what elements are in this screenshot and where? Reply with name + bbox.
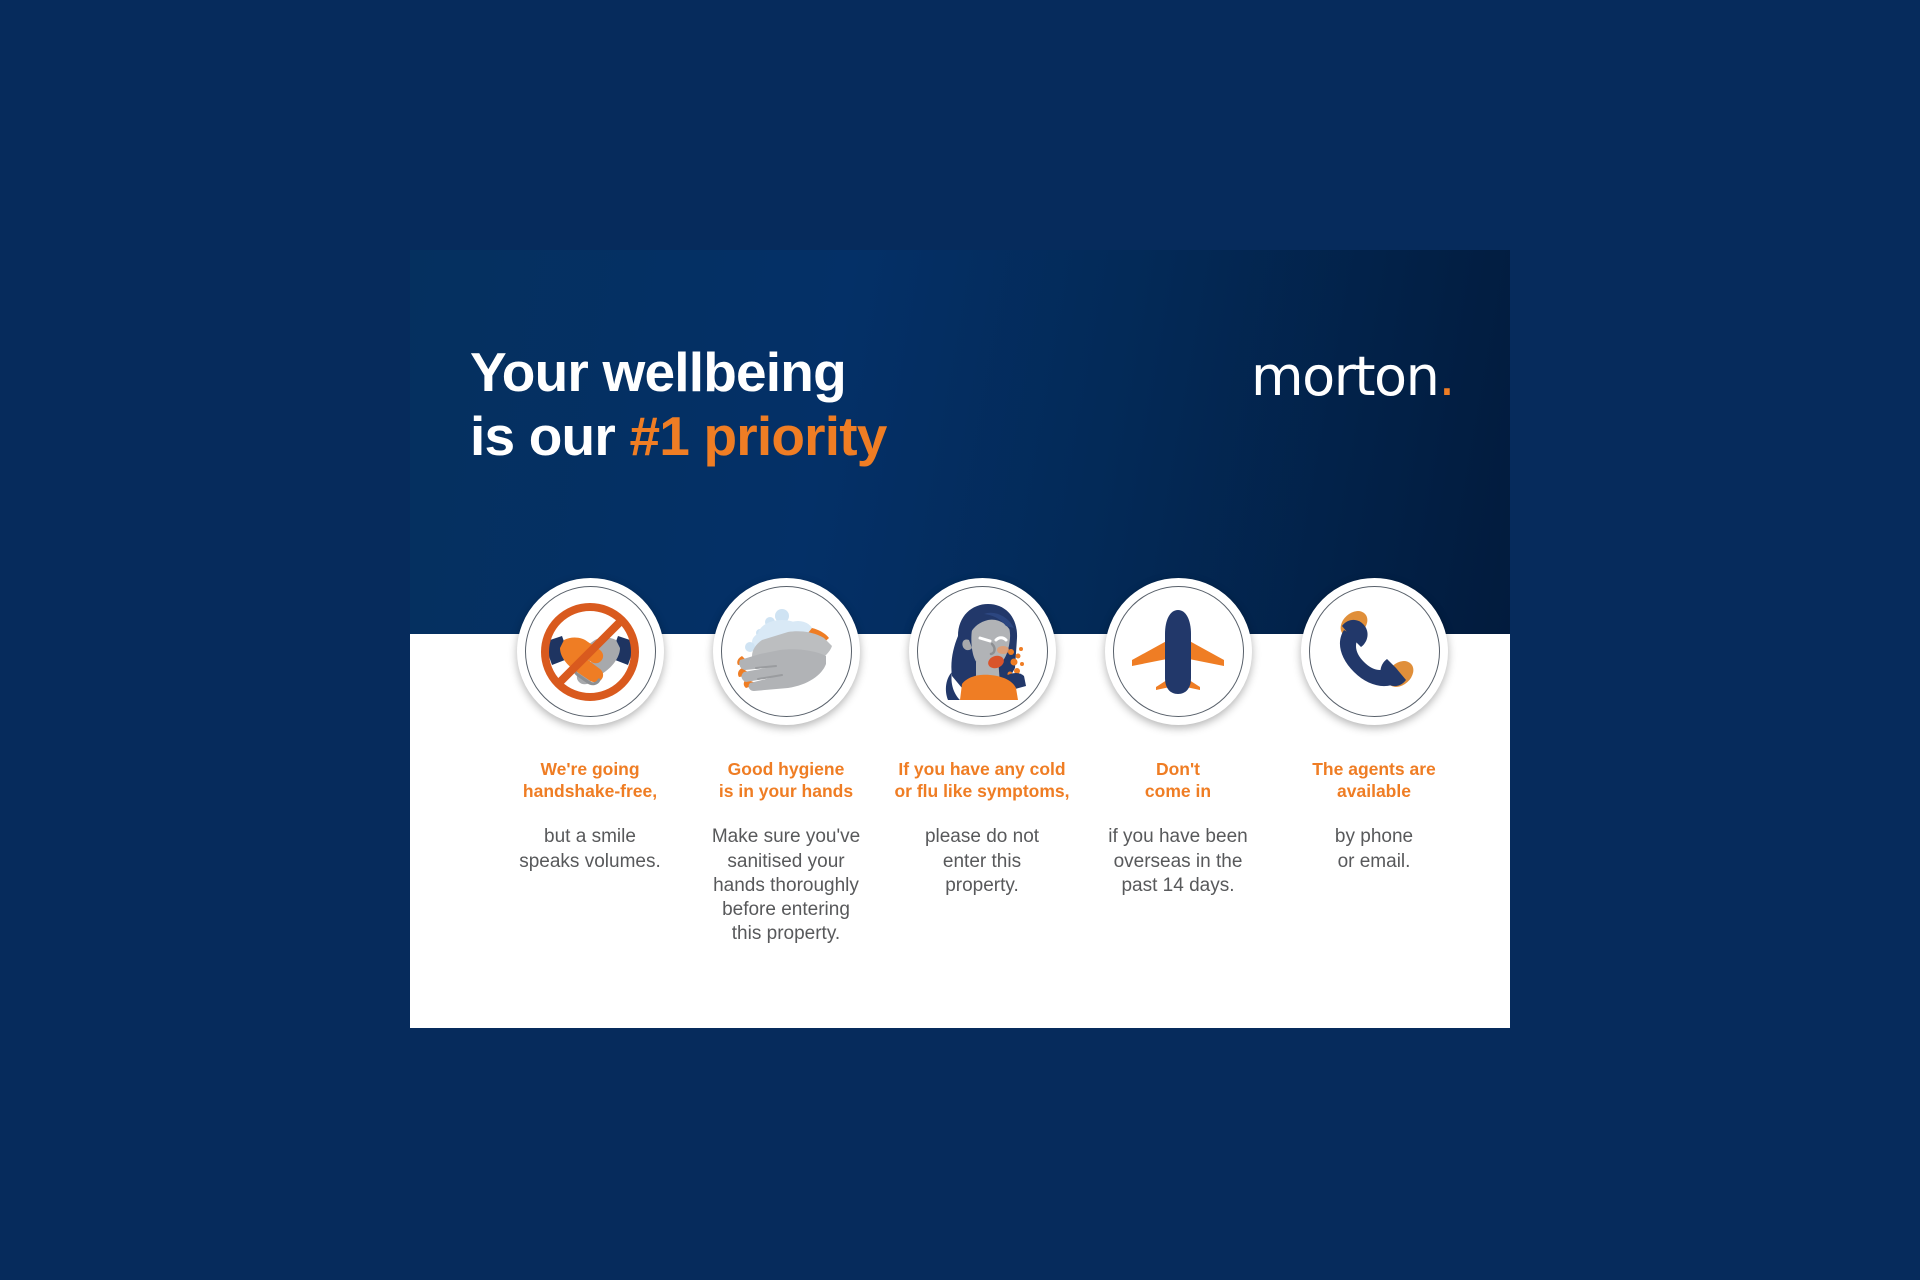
airplane-icon [1105,578,1252,725]
morton-logo: morton. [1251,350,1454,404]
advice-columns: We're going handshake-free, but a smile … [410,578,1510,1028]
advice-body: by phone or email. [1335,825,1413,873]
headline-line-1: Your wellbeing [470,340,887,404]
advice-column-travel: Don't come in if you have been overseas … [1080,578,1276,1028]
advice-title: If you have any cold or flu like symptom… [894,759,1069,802]
advice-column-hygiene: Good hygiene is in your hands Make sure … [688,578,884,1028]
washing-hands-icon [713,578,860,725]
advice-body: Make sure you've sanitised your hands th… [712,825,860,946]
advice-title: Good hygiene is in your hands [719,759,853,802]
advice-body: but a smile speaks volumes. [519,825,661,873]
telephone-handset-icon [1301,578,1448,725]
headline-line-2-white: is our [470,405,629,467]
headline-line-2-accent: #1 priority [629,405,886,467]
advice-column-symptoms: If you have any cold or flu like symptom… [884,578,1080,1028]
logo-dot: . [1438,345,1454,408]
advice-title: We're going handshake-free, [523,759,657,802]
advice-body: please do not enter this property. [925,825,1039,897]
page-title: Your wellbeing is our #1 priority [470,340,887,469]
no-handshake-icon [517,578,664,725]
headline-line-2: is our #1 priority [470,404,887,468]
poster-canvas: Your wellbeing is our #1 priority morton… [0,0,1920,1280]
advice-column-contact: The agents are available by phone or ema… [1276,578,1472,1028]
advice-column-handshake: We're going handshake-free, but a smile … [492,578,688,1028]
advice-title: The agents are available [1312,759,1436,802]
sneezing-person-icon [909,578,1056,725]
advice-body: if you have been overseas in the past 14… [1108,825,1247,897]
advice-title: Don't come in [1145,759,1211,802]
logo-wordmark: morton [1251,345,1438,408]
